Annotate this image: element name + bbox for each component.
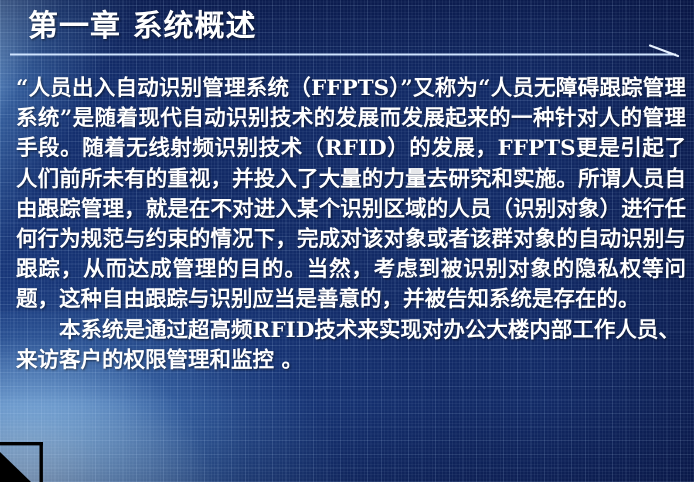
body-paragraph-1: “人员出入自动识别管理系统（FFPTS）”又称为“人员无障碍跟踪管理系统”是随着… [16,74,686,316]
corner-vertical-bar [40,442,43,482]
slide-title: 第一章 系统概述 [28,8,256,46]
corner-triangle [0,452,31,482]
bottom-left-corner-mark [0,437,120,482]
corner-horizontal-bar [0,442,43,445]
corner-mark-svg [0,437,120,482]
slide-body: “人员出入自动识别管理系统（FFPTS）”又称为“人员无障碍跟踪管理系统”是随着… [16,74,686,376]
body-paragraph-2: 本系统是通过超高频RFID技术来实现对办公大楼内部工作人员、来访客户的权限管理和… [16,316,686,376]
slide-canvas: 第一章 系统概述 “人员出入自动识别管理系统（FFPTS）”又称为“人员无障碍跟… [0,0,694,482]
